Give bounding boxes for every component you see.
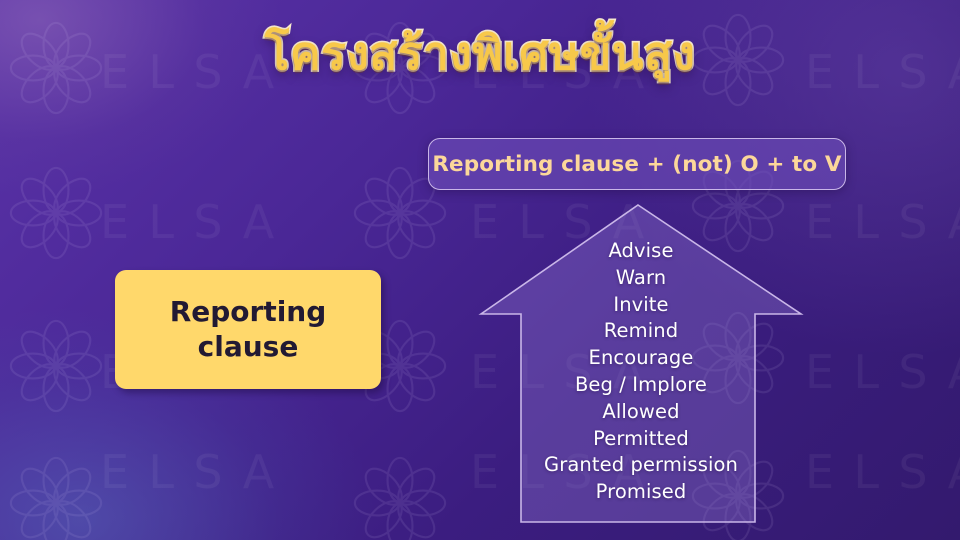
brand-watermark: ELSA [100, 195, 294, 249]
flower-decoration-icon [8, 165, 104, 265]
verb-list-item: Promised [476, 479, 806, 506]
formula-banner-text: Reporting clause + (not) O + to V [432, 152, 841, 177]
slide-canvas: ELSAELSAELSAELSAELSAELSAELSAELSAELSAELSA… [0, 0, 960, 540]
verb-list-item: Granted permission [476, 452, 806, 479]
verb-list-item: Permitted [476, 426, 806, 453]
brand-watermark: ELSA [805, 195, 960, 249]
flower-decoration-icon [8, 318, 104, 418]
verb-list-item: Warn [476, 265, 806, 292]
verb-list-item: Advise [476, 238, 806, 265]
verb-list-item: Invite [476, 292, 806, 319]
brand-watermark: ELSA [805, 445, 960, 499]
brand-watermark: ELSA [805, 345, 960, 399]
verb-list-arrow: AdviseWarnInviteRemindEncourageBeg / Imp… [476, 200, 806, 528]
brand-watermark: ELSA [100, 445, 294, 499]
verb-list-item: Beg / Implore [476, 372, 806, 399]
verb-list-item: Remind [476, 318, 806, 345]
flower-decoration-icon [352, 455, 448, 540]
verb-list-item: Encourage [476, 345, 806, 372]
flower-decoration-icon [8, 455, 104, 540]
verb-list: AdviseWarnInviteRemindEncourageBeg / Imp… [476, 200, 806, 506]
reporting-clause-box: Reporting clause [115, 270, 381, 389]
page-title: โครงสร้างพิเศษขั้นสูง [0, 28, 960, 80]
formula-banner: Reporting clause + (not) O + to V [428, 138, 846, 190]
reporting-clause-label: Reporting clause [170, 295, 327, 363]
verb-list-item: Allowed [476, 399, 806, 426]
